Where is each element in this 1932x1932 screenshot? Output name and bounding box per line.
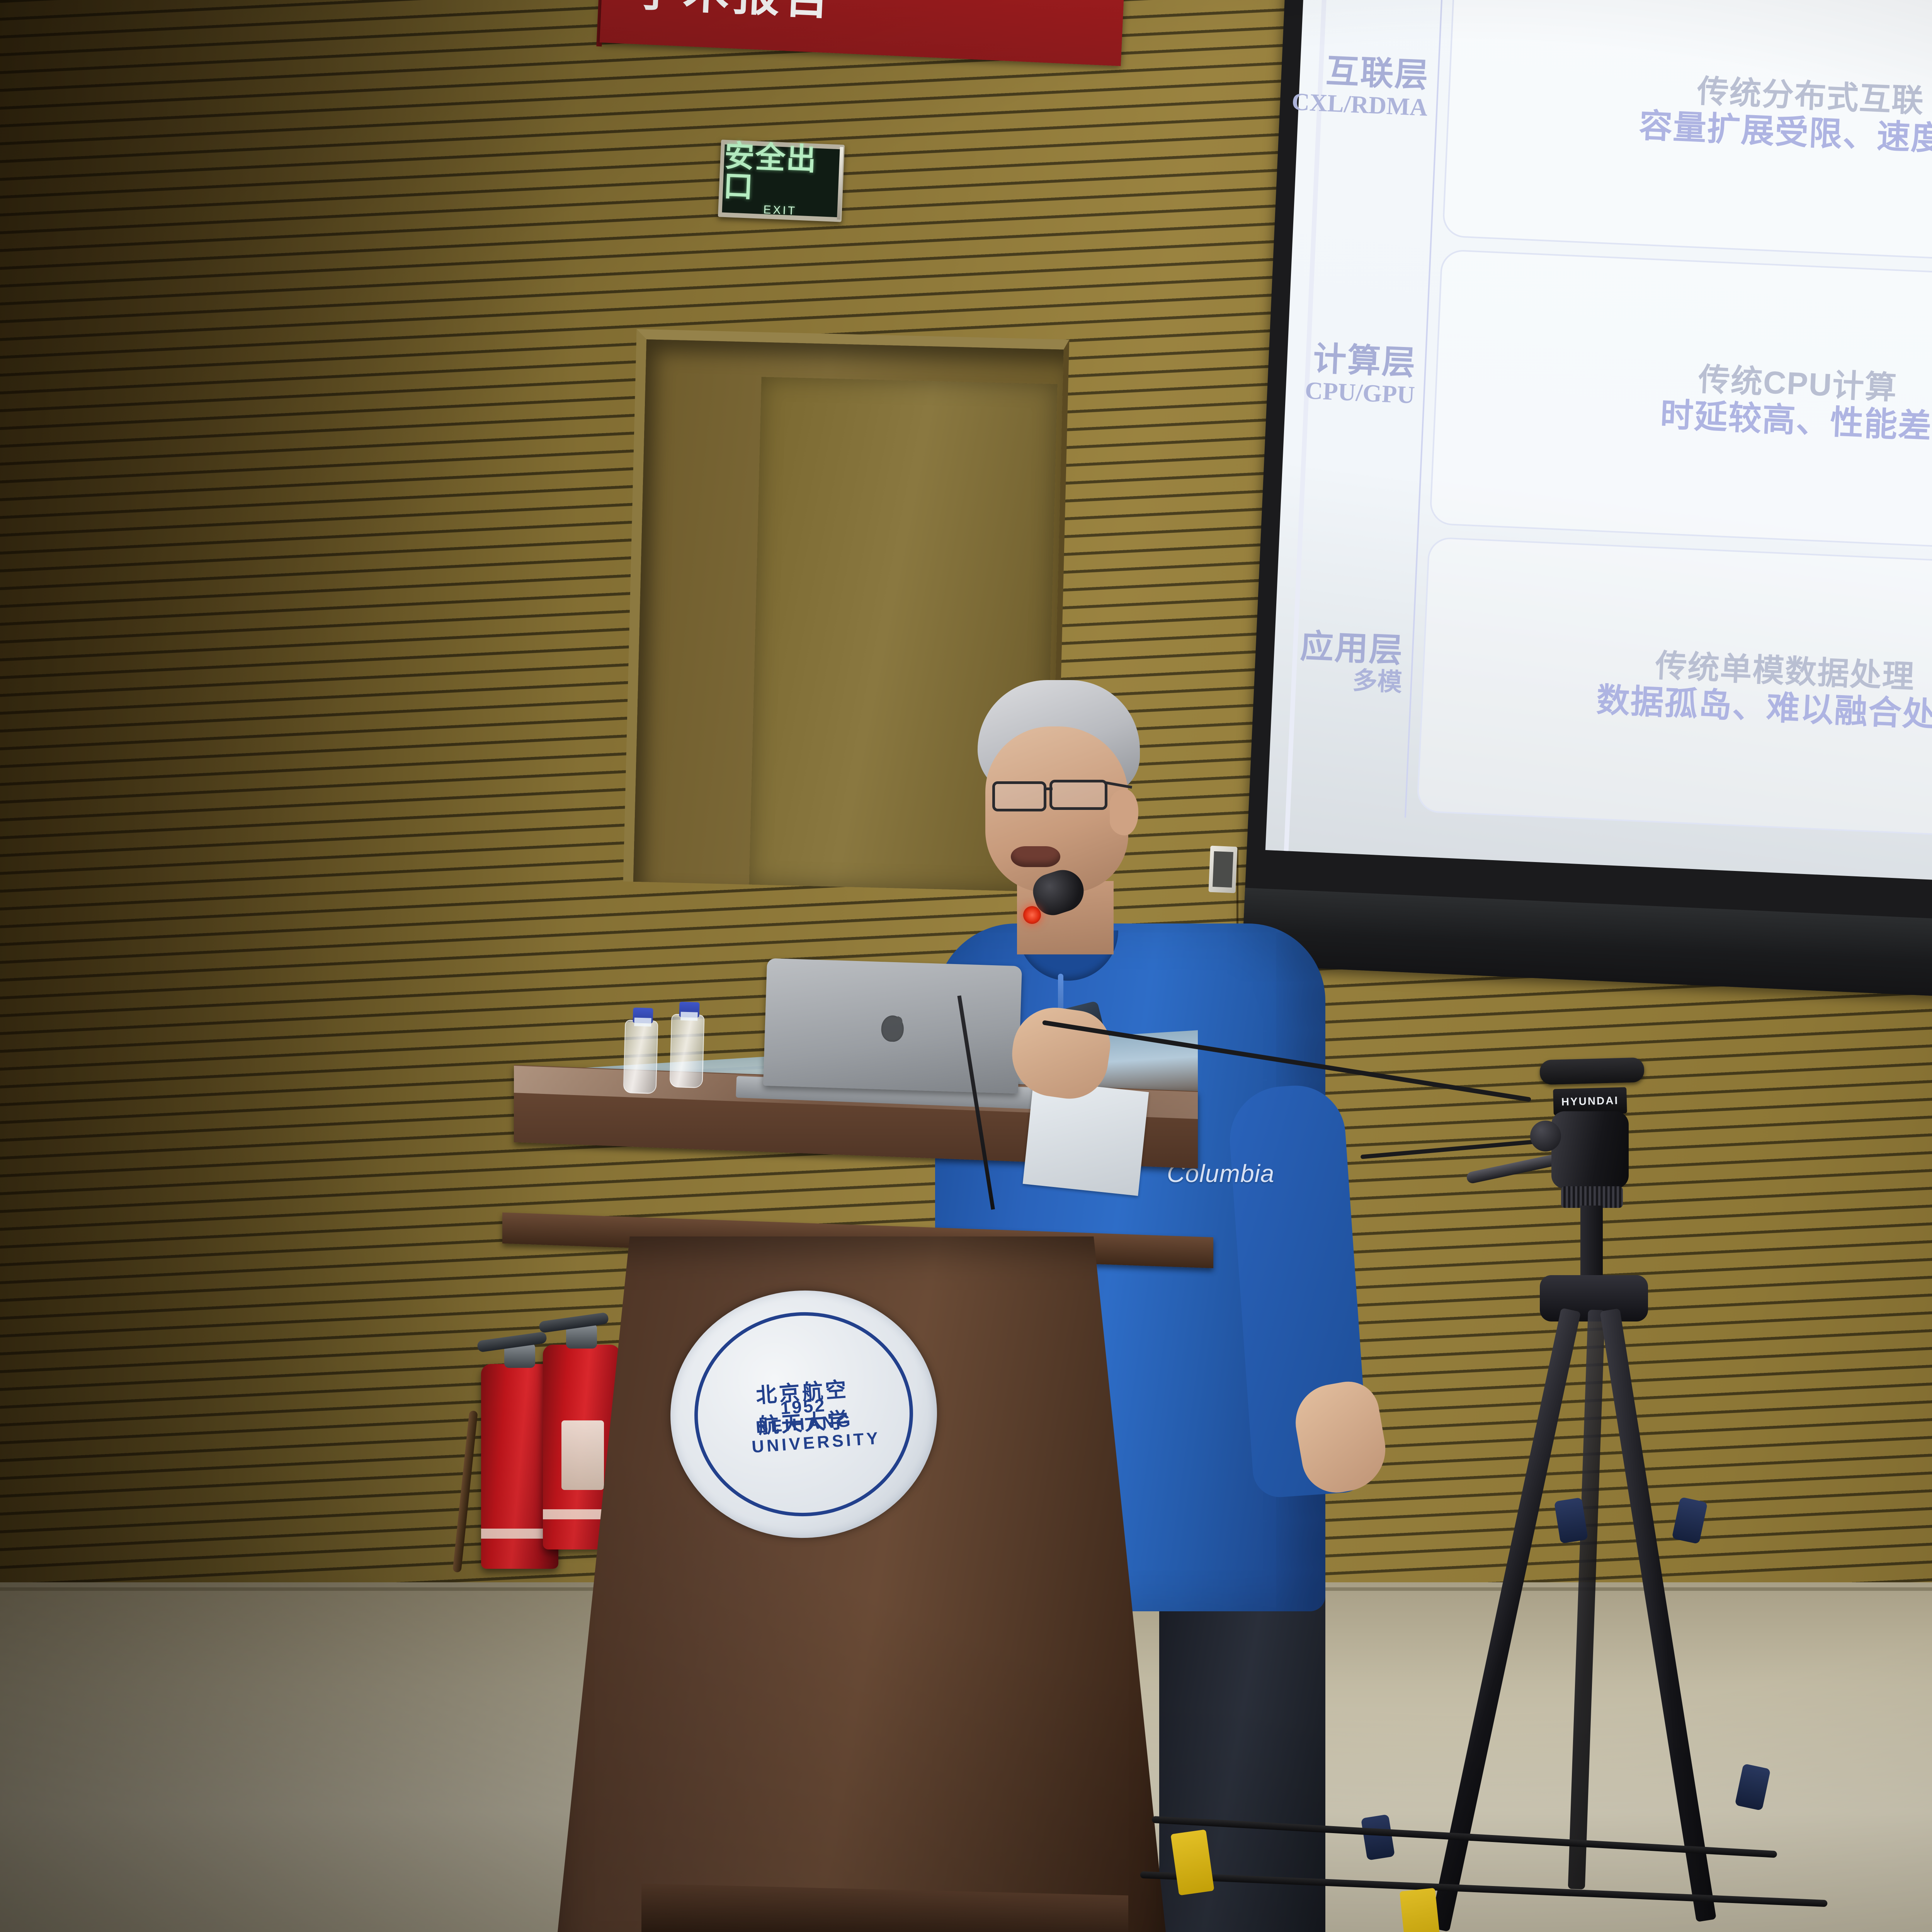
exit-sign-chinese: 安全出口 <box>723 141 841 206</box>
emergency-exit-sign: 安全出口 EXIT <box>718 139 845 222</box>
speaker-mouth <box>1011 846 1060 867</box>
glasses-right-lens <box>1049 780 1107 810</box>
layer-label-en: CPU/GPU <box>1304 376 1416 410</box>
speaker-ear <box>1110 789 1138 835</box>
legacy-column: 传统集中存储 故障恢复慢 传统分布式互联 容量扩展受限、速度慢 传统CPU计算 … <box>1406 0 1932 851</box>
water-bottle[interactable] <box>669 1014 704 1088</box>
legacy-box-interconnect: 传统分布式互联 容量扩展受限、速度慢 <box>1442 0 1932 269</box>
microphone-status-led <box>1023 906 1041 924</box>
cable-tape-marker <box>1400 1888 1441 1932</box>
tripod-center-column <box>1580 1206 1603 1283</box>
apple-leaf-icon <box>895 1016 904 1026</box>
extinguisher-label <box>561 1420 604 1490</box>
apple-logo-icon <box>881 1015 904 1042</box>
layer-label-en: CXL/RDMA <box>1291 87 1428 122</box>
tripod-collar[interactable] <box>1561 1186 1623 1208</box>
bottle-neck <box>634 1018 651 1027</box>
bottle-neck <box>680 1012 698 1021</box>
layer-label-cn: 计算层 <box>1312 341 1417 381</box>
webcam[interactable] <box>1539 1057 1645 1085</box>
layer-label-compute: 计算层 CPU/GPU <box>1303 237 1422 529</box>
banner-text: 学术报告 <box>632 0 835 27</box>
layer-label-cn: 应用层 <box>1299 629 1404 668</box>
exit-sign-face: 安全出口 EXIT <box>722 145 840 217</box>
emblem-mark: 北京航空航天大学 1952 BEIHANG UNIVERSITY <box>746 1359 861 1470</box>
layer-label-interconnect: 互联层 CXL/RDMA <box>1316 0 1434 242</box>
tripod-head[interactable] <box>1551 1111 1629 1189</box>
layer-label-cn: 互联层 <box>1325 54 1430 93</box>
lecture-hall-photo: 学术报告 安全出口 EXIT 存储层 NVM <box>0 0 1932 1932</box>
legacy-box-application: 传统单模数据处理 数据孤岛、难以融合处理 <box>1417 537 1932 844</box>
emblem-english-name: BEIHANG UNIVERSITY <box>750 1411 860 1457</box>
tripod-tilt-knob[interactable] <box>1530 1121 1561 1151</box>
paper-notes[interactable] <box>1023 1080 1149 1196</box>
glasses-bridge <box>1046 787 1053 790</box>
glasses-left-lens <box>992 781 1046 811</box>
laptop[interactable] <box>763 958 1022 1094</box>
legacy-box-compute: 传统CPU计算 时延较高、性能差 <box>1429 249 1932 557</box>
camera-brand-label: HYUNDAI <box>1561 1094 1619 1108</box>
water-bottle[interactable] <box>623 1020 658 1094</box>
exit-sign-english: EXIT <box>763 203 797 218</box>
